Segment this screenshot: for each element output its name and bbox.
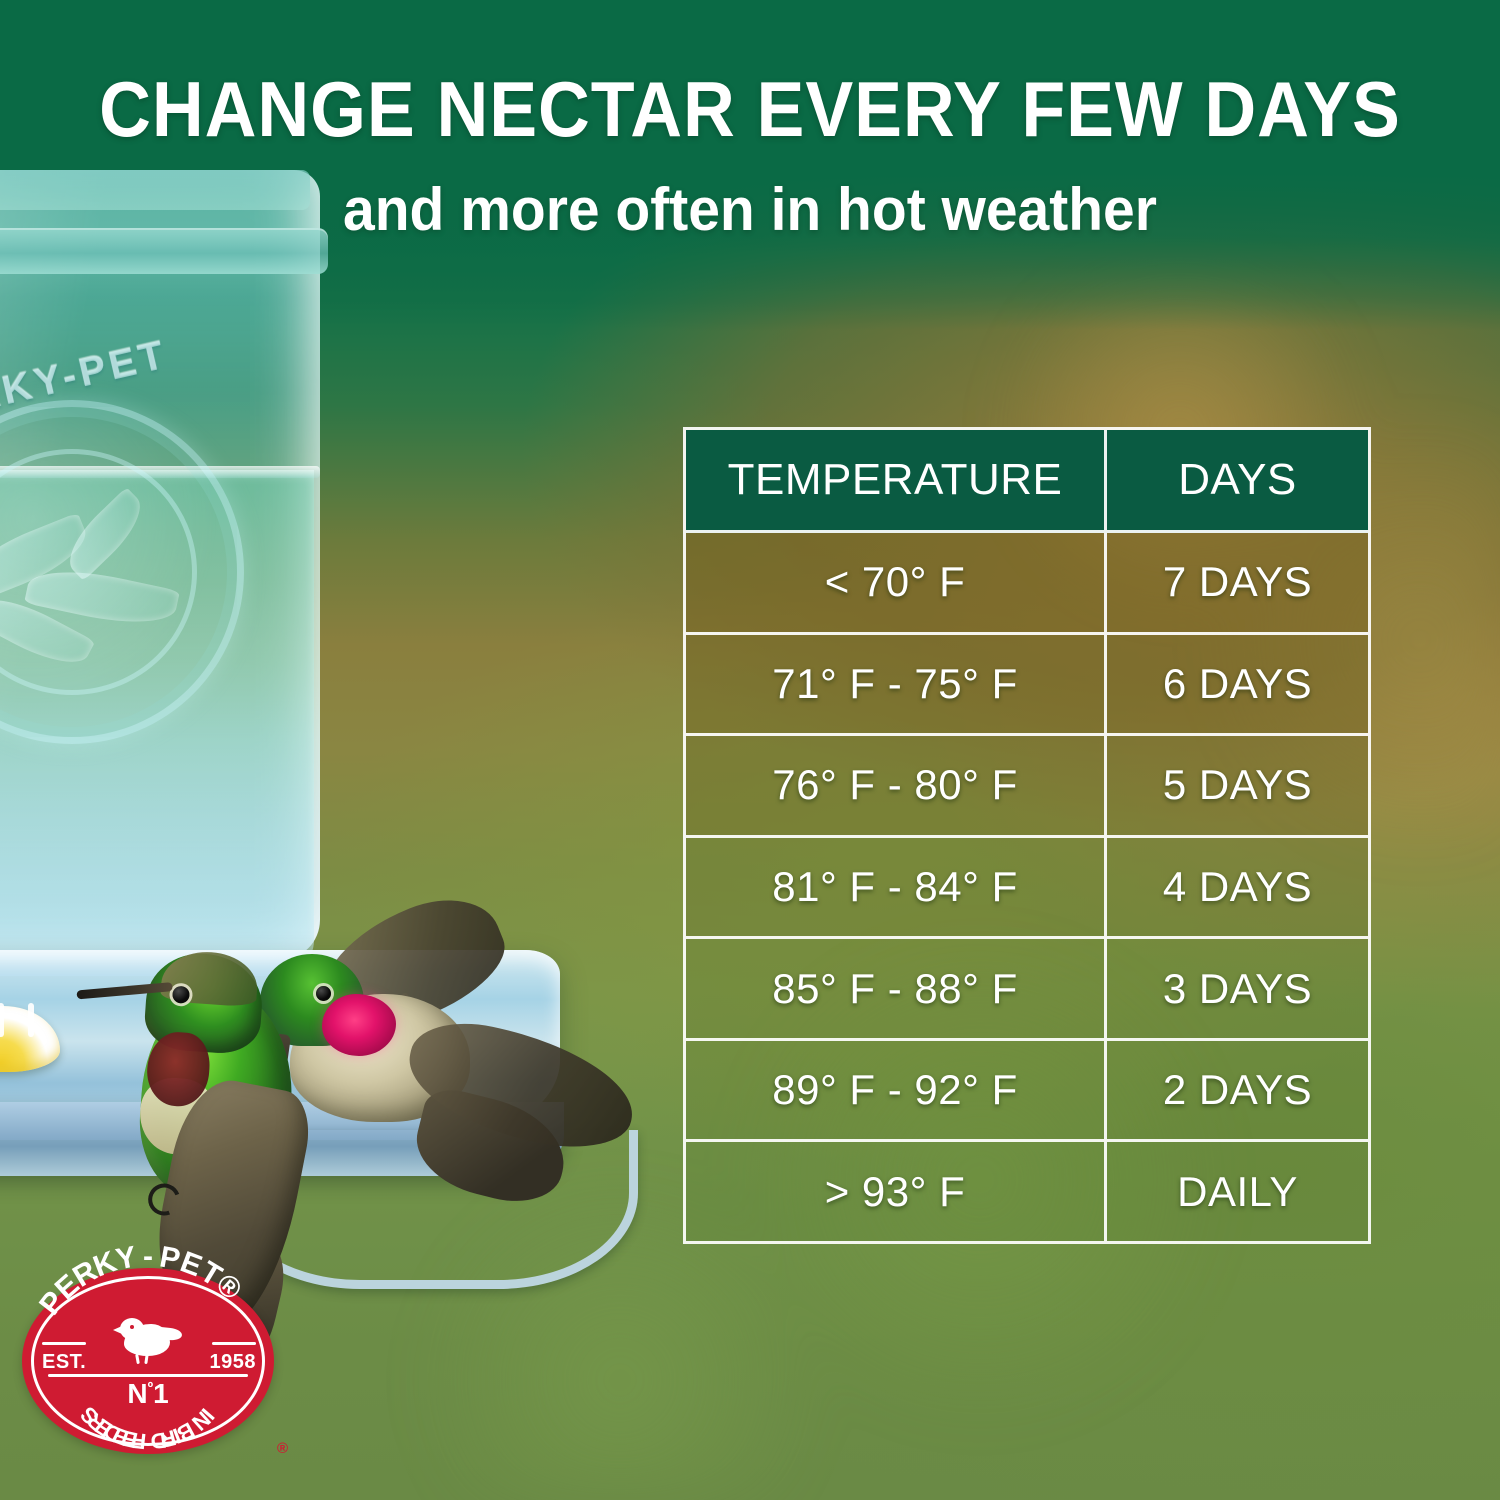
- cell-temperature: 85° F - 88° F: [686, 939, 1107, 1038]
- bird-head: [120, 1318, 144, 1340]
- cell-days: 5 DAYS: [1107, 736, 1368, 835]
- glass-nectar-jar: PERKY-PET: [0, 170, 320, 960]
- nectar-change-table: TEMPERATURE DAYS < 70° F 7 DAYS 71° F - …: [683, 427, 1371, 1244]
- logo-tagline-arc: IN BIRD FEEDERS: [22, 1362, 274, 1454]
- cell-days: 4 DAYS: [1107, 838, 1368, 937]
- table-row: > 93° F DAILY: [686, 1142, 1368, 1241]
- cell-temperature: > 93° F: [686, 1142, 1107, 1241]
- logo-rule-left: [42, 1342, 86, 1345]
- cell-days: 3 DAYS: [1107, 939, 1368, 1038]
- registered-mark: ®: [277, 1441, 288, 1456]
- cell-days: 6 DAYS: [1107, 635, 1368, 734]
- bird-eye: [130, 1325, 134, 1329]
- cell-temperature: < 70° F: [686, 533, 1107, 632]
- perky-pet-logo: PERKY-PET® EST. 1958 Nº1 IN BIRD FEEDERS…: [22, 1268, 274, 1454]
- page-title: CHANGE NECTAR EVERY FEW DAYS: [60, 70, 1440, 150]
- column-header-temperature: TEMPERATURE: [686, 430, 1107, 530]
- table-row: 89° F - 92° F 2 DAYS: [686, 1041, 1368, 1143]
- logo-rule-right: [212, 1342, 256, 1345]
- cell-temperature: 71° F - 75° F: [686, 635, 1107, 734]
- page-subtitle: and more often in hot weather: [38, 178, 1463, 241]
- table-row: 76° F - 80° F 5 DAYS: [686, 736, 1368, 838]
- nectar-change-infographic: PERKY-PET: [0, 0, 1500, 1500]
- cell-temperature: 89° F - 92° F: [686, 1041, 1107, 1140]
- feeder-flower-port: [0, 1006, 60, 1072]
- bird-silhouette-icon: [118, 1316, 180, 1366]
- cell-temperature: 76° F - 80° F: [686, 736, 1107, 835]
- cell-temperature: 81° F - 84° F: [686, 838, 1107, 937]
- flower-notch: [0, 1003, 4, 1037]
- table-row: 85° F - 88° F 3 DAYS: [686, 939, 1368, 1041]
- column-header-days: DAYS: [1107, 430, 1368, 530]
- cell-days: 2 DAYS: [1107, 1041, 1368, 1140]
- cell-days: DAILY: [1107, 1142, 1368, 1241]
- logo-arc-char: -: [143, 1240, 153, 1274]
- table-row: 81° F - 84° F 4 DAYS: [686, 838, 1368, 940]
- table-row: 71° F - 75° F 6 DAYS: [686, 635, 1368, 737]
- flower-notch: [28, 1003, 34, 1037]
- table-row: < 70° F 7 DAYS: [686, 533, 1368, 635]
- feeder-photo: PERKY-PET: [0, 150, 640, 1330]
- table-header-row: TEMPERATURE DAYS: [686, 430, 1368, 533]
- cell-days: 7 DAYS: [1107, 533, 1368, 632]
- bird-beak: [113, 1326, 122, 1334]
